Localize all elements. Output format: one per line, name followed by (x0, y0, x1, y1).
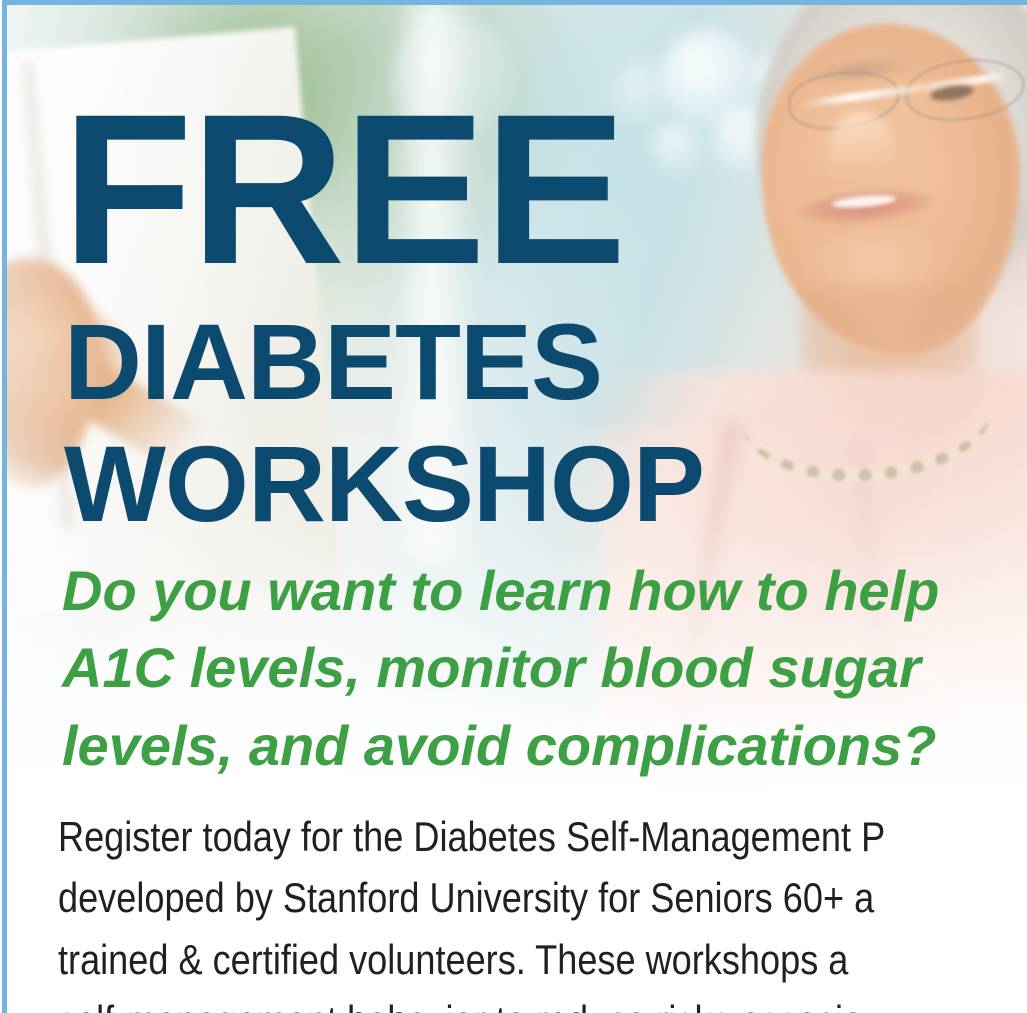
body-copy-line-1: Register today for the Diabetes Self-Man… (58, 806, 1021, 867)
headline-workshop: WORKSHOP (64, 430, 704, 538)
headline-free: FREE (62, 92, 625, 289)
headline-diabetes: DIABETES (64, 308, 602, 416)
body-copy-block: Register today for the Diabetes Self-Man… (58, 806, 1021, 1013)
tagline-line-3: levels, and avoid complications? (62, 707, 1027, 784)
flyer-page: FREE DIABETES WORKSHOP Do you want to le… (0, 0, 1027, 1013)
body-copy-line-3: trained & certified volunteers. These wo… (58, 929, 1021, 990)
tagline-block: Do you want to learn how to help A1C lev… (62, 552, 1027, 784)
page-border-top (0, 0, 1027, 5)
page-border-left (2, 0, 7, 1013)
tagline-line-2: A1C levels, monitor blood sugar (62, 629, 1027, 706)
body-copy-line-4: self-management behavior to reduce risks… (58, 990, 1021, 1013)
flyer-content: FREE DIABETES WORKSHOP Do you want to le… (0, 0, 1027, 1013)
tagline-line-1: Do you want to learn how to help (62, 552, 1027, 629)
page-left-gutter (0, 0, 2, 1013)
body-copy-line-2: developed by Stanford University for Sen… (58, 867, 1021, 928)
